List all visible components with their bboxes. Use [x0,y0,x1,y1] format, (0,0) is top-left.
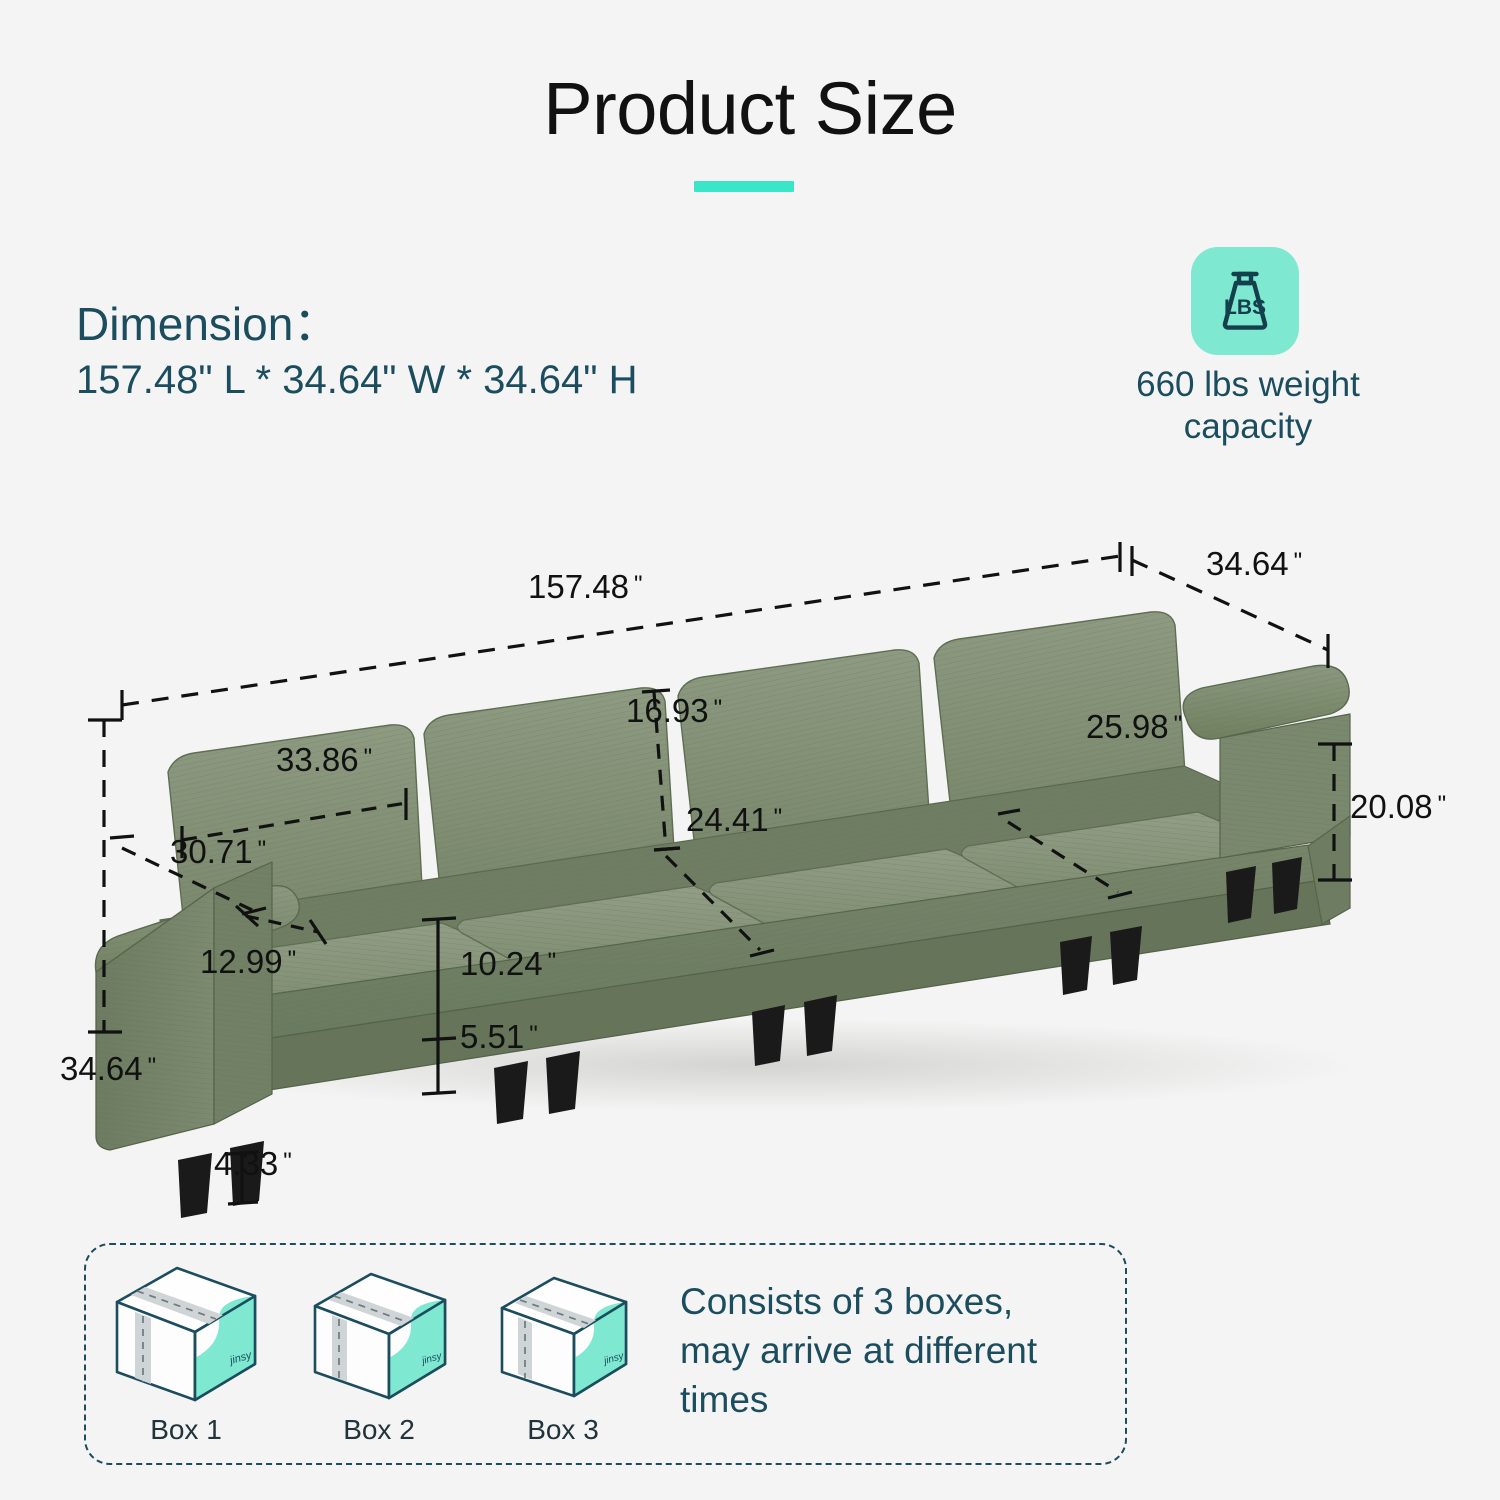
box-item-1: jinsy Box 1 [105,1258,267,1446]
dimension-value: 157.48" L * 34.64" W * 34.64" H [76,358,637,403]
packaging-note-line-1: Consists of 3 boxes, [680,1281,1013,1322]
box-item-2: jinsy Box 2 [303,1258,455,1446]
box-label-1: Box 1 [150,1414,222,1446]
infographic-root: Product Size Dimension： 157.48" L * 34.6… [0,0,1500,1500]
svg-text:LBS: LBS [1224,296,1266,319]
callout-arm-to-back: 25.98" [1086,708,1182,746]
dimension-label: Dimension： [76,288,339,354]
callout-seat-depth: 24.41" [686,801,782,839]
callout-overall-height: 34.64" [60,1050,156,1088]
weight-capacity-text: 660 lbs weight capacity [1098,364,1398,448]
callout-base-height: 5.51" [460,1018,538,1056]
callout-backrest-width: 33.86" [276,741,372,779]
callout-overall-depth: 34.64" [1206,545,1302,583]
weight-line-2: capacity [1184,407,1312,446]
weight-capacity-badge: LBS [1191,247,1299,355]
callout-seat-height: 10.24" [460,945,556,983]
lbs-weight-icon: LBS [1191,247,1299,355]
callout-leg-height: 4.33" [214,1145,292,1183]
callout-arm-width: 12.99" [200,943,296,981]
callout-arm-depth: 30.71" [170,833,266,871]
weight-line-1: 660 lbs weight [1136,365,1360,404]
box-item-3: jinsy Box 3 [490,1258,636,1446]
sofa-illustration: 157.48" 34.64" 33.86" 16.93" 24.41" 25.9… [60,520,1460,1220]
callout-back-cushion-height: 16.93" [626,692,722,730]
left-arm [95,862,299,1150]
page-title: Product Size [0,66,1500,151]
title-accent-rule [694,181,794,192]
box-label-3: Box 3 [527,1414,599,1446]
callout-seat-height-side: 20.08" [1350,788,1446,826]
box-label-2: Box 2 [343,1414,415,1446]
packaging-note-line-2: may arrive at different [680,1330,1037,1371]
packaging-note: Consists of 3 boxes, may arrive at diffe… [680,1277,1120,1424]
callout-overall-length: 157.48" [528,568,642,606]
packaging-note-line-3: times [680,1379,768,1420]
